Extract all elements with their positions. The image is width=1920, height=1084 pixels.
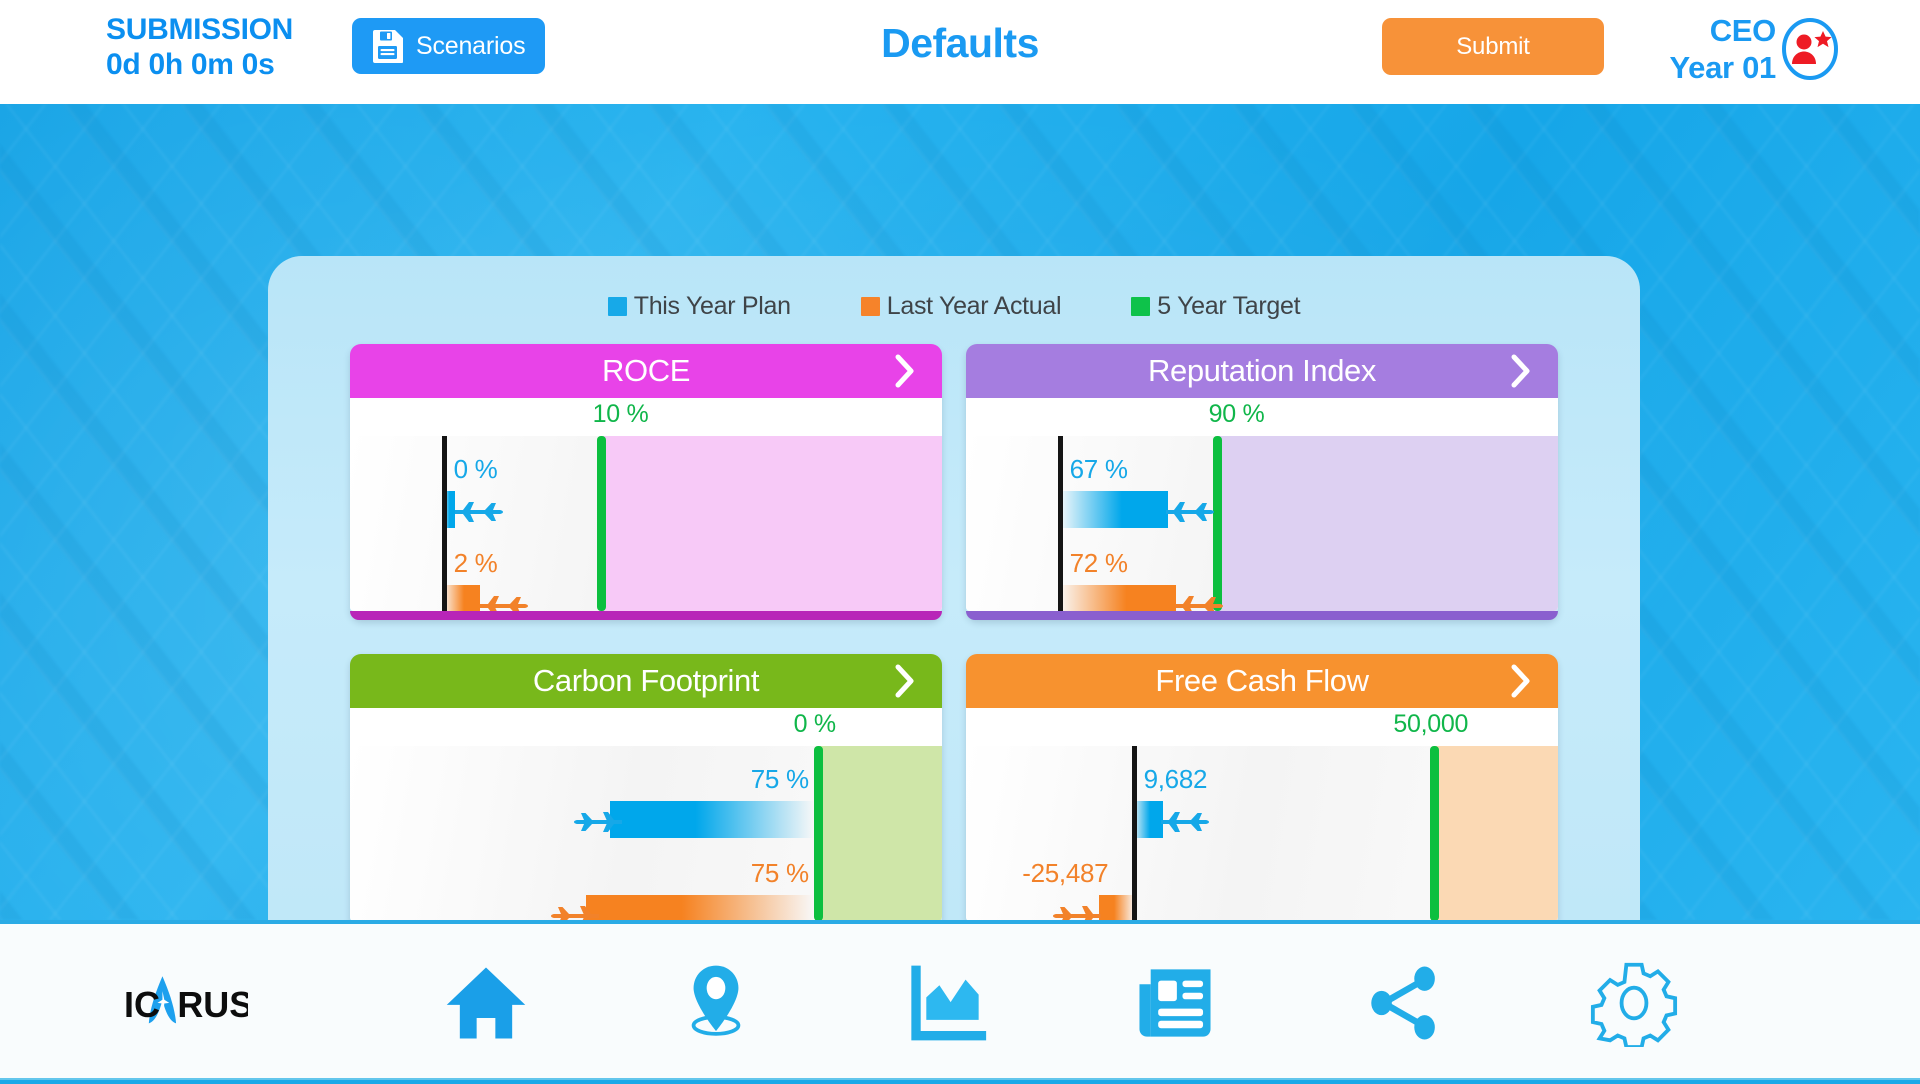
target-line-free-cash-flow bbox=[1430, 746, 1439, 920]
bar-last-year-actual bbox=[1099, 895, 1135, 920]
role-title: CEO bbox=[1669, 12, 1776, 49]
bar-row-this-year-plan: 67 % bbox=[966, 454, 1558, 530]
legend-swatch-last-year-actual bbox=[861, 297, 880, 316]
map-pin-icon bbox=[673, 960, 759, 1049]
user-star-avatar-icon[interactable] bbox=[1778, 17, 1842, 81]
card-header-reputation-index[interactable]: Reputation Index bbox=[966, 344, 1558, 398]
card-body-reputation-index: 90 % 67 % bbox=[966, 398, 1558, 611]
nav-share[interactable] bbox=[1358, 958, 1450, 1050]
icarus-logo[interactable]: IC RUS bbox=[124, 972, 248, 1030]
bottom-nav-bar: IC RUS bbox=[0, 920, 1920, 1080]
target-line-carbon-footprint bbox=[814, 746, 823, 920]
chevron-right-icon[interactable] bbox=[1510, 354, 1532, 388]
share-icon bbox=[1361, 960, 1447, 1049]
kpi-card-roce[interactable]: ROCE 10 % 0 % bbox=[350, 344, 942, 620]
card-title-carbon-footprint: Carbon Footprint bbox=[533, 663, 759, 699]
legend-item: 5 Year Target bbox=[1131, 292, 1300, 321]
kpi-card-reputation-index[interactable]: Reputation Index 90 % 67 % bbox=[966, 344, 1558, 620]
card-title-free-cash-flow: Free Cash Flow bbox=[1155, 663, 1368, 699]
bar-value-last-year-actual: 2 % bbox=[454, 548, 498, 579]
plane-icon-orange bbox=[1172, 582, 1224, 611]
target-label-reputation-index: 90 % bbox=[1209, 400, 1265, 429]
plane-icon-orange bbox=[1052, 892, 1104, 920]
top-header: SUBMISSION 0d 0h 0m 0s Scenarios Default… bbox=[0, 0, 1920, 104]
role-text: CEO Year 01 bbox=[1669, 12, 1776, 86]
kpi-card-free-cash-flow[interactable]: Free Cash Flow 50,000 9,682 bbox=[966, 654, 1558, 920]
plot-roce: 0 % 2 % bbox=[350, 436, 942, 611]
bar-this-year-plan bbox=[1058, 491, 1168, 528]
card-body-free-cash-flow: 50,000 9,682 bbox=[966, 708, 1558, 920]
home-icon bbox=[443, 960, 529, 1049]
nav-map[interactable] bbox=[670, 958, 762, 1050]
bar-row-last-year-actual: -25,487 bbox=[966, 858, 1558, 920]
bar-value-this-year-plan: 75 % bbox=[751, 764, 809, 795]
card-header-carbon-footprint[interactable]: Carbon Footprint bbox=[350, 654, 942, 708]
plot-carbon-footprint: 75 % 75 % bbox=[350, 746, 942, 920]
card-title-roce: ROCE bbox=[602, 353, 690, 389]
plane-icon-blue bbox=[452, 488, 504, 532]
bar-value-last-year-actual: -25,487 bbox=[1022, 858, 1108, 889]
newspaper-icon bbox=[1132, 960, 1218, 1049]
legend-label-5-year-target: 5 Year Target bbox=[1157, 292, 1300, 321]
chevron-right-icon[interactable] bbox=[894, 664, 916, 698]
nav-settings[interactable] bbox=[1588, 958, 1680, 1050]
card-header-free-cash-flow[interactable]: Free Cash Flow bbox=[966, 654, 1558, 708]
main-stage: This Year Plan Last Year Actual 5 Year T… bbox=[0, 104, 1920, 920]
card-footer-reputation-index bbox=[966, 611, 1558, 620]
bar-last-year-actual bbox=[442, 585, 480, 611]
legend-swatch-this-year-plan bbox=[608, 297, 627, 316]
bar-value-last-year-actual: 72 % bbox=[1070, 548, 1128, 579]
target-label-roce: 10 % bbox=[593, 400, 649, 429]
card-header-roce[interactable]: ROCE bbox=[350, 344, 942, 398]
svg-text:RUS: RUS bbox=[177, 984, 248, 1025]
bar-last-year-actual bbox=[1058, 585, 1176, 611]
legend-item: Last Year Actual bbox=[861, 292, 1062, 321]
chart-icon bbox=[902, 960, 988, 1049]
bar-row-this-year-plan: 0 % bbox=[350, 454, 942, 530]
role-block[interactable]: CEO Year 01 bbox=[1669, 12, 1842, 86]
bar-row-last-year-actual: 72 % bbox=[966, 548, 1558, 611]
card-title-reputation-index: Reputation Index bbox=[1148, 353, 1376, 389]
gear-icon bbox=[1590, 959, 1678, 1050]
bar-value-this-year-plan: 9,682 bbox=[1144, 764, 1208, 795]
plane-icon-blue bbox=[1158, 798, 1210, 842]
chevron-right-icon[interactable] bbox=[1510, 664, 1532, 698]
svg-text:IC: IC bbox=[124, 984, 160, 1025]
bar-value-last-year-actual: 75 % bbox=[751, 858, 809, 889]
kpi-card-carbon-footprint[interactable]: Carbon Footprint 0 % 75 % bbox=[350, 654, 942, 920]
card-footer-roce bbox=[350, 611, 942, 620]
bar-this-year-plan bbox=[610, 801, 814, 838]
bar-value-this-year-plan: 0 % bbox=[454, 454, 498, 485]
axis-zero-line-roce bbox=[442, 436, 447, 611]
nav-news[interactable] bbox=[1129, 958, 1221, 1050]
legend-swatch-5-year-target bbox=[1131, 297, 1150, 316]
dashboard-panel: This Year Plan Last Year Actual 5 Year T… bbox=[268, 256, 1640, 920]
submit-button[interactable]: Submit bbox=[1382, 18, 1604, 75]
target-label-carbon-footprint: 0 % bbox=[794, 710, 836, 739]
chart-legend: This Year Plan Last Year Actual 5 Year T… bbox=[268, 292, 1640, 321]
target-label-free-cash-flow: 50,000 bbox=[1393, 710, 1468, 739]
bar-row-this-year-plan: 75 % bbox=[350, 764, 942, 840]
legend-label-last-year-actual: Last Year Actual bbox=[887, 292, 1062, 321]
nav-home[interactable] bbox=[440, 958, 532, 1050]
chevron-right-icon[interactable] bbox=[894, 354, 916, 388]
target-line-roce bbox=[597, 436, 606, 611]
plot-free-cash-flow: 9,682 -25,487 bbox=[966, 746, 1558, 920]
kpi-card-grid: ROCE 10 % 0 % bbox=[350, 344, 1558, 920]
bar-row-last-year-actual: 75 % bbox=[350, 858, 942, 920]
role-year: Year 01 bbox=[1669, 49, 1776, 86]
plot-reputation-index: 67 % 72 % bbox=[966, 436, 1558, 611]
nav-reports[interactable] bbox=[899, 958, 991, 1050]
bar-row-last-year-actual: 2 % bbox=[350, 548, 942, 611]
bar-last-year-actual bbox=[586, 895, 814, 920]
plane-icon-blue bbox=[573, 798, 625, 842]
axis-zero-line-reputation-index bbox=[1058, 436, 1063, 611]
legend-item: This Year Plan bbox=[608, 292, 791, 321]
plane-icon-orange bbox=[550, 892, 602, 920]
bar-value-this-year-plan: 67 % bbox=[1070, 454, 1128, 485]
legend-label-this-year-plan: This Year Plan bbox=[634, 292, 791, 321]
plane-icon-orange bbox=[477, 582, 529, 611]
bar-row-this-year-plan: 9,682 bbox=[966, 764, 1558, 840]
bottom-nav-items bbox=[400, 924, 1760, 1084]
axis-zero-line-free-cash-flow bbox=[1132, 746, 1137, 920]
card-body-carbon-footprint: 0 % 75 % bbox=[350, 708, 942, 920]
plane-icon-blue bbox=[1163, 488, 1215, 532]
card-body-roce: 10 % 0 % bbox=[350, 398, 942, 611]
page-title: Defaults bbox=[0, 20, 1920, 67]
